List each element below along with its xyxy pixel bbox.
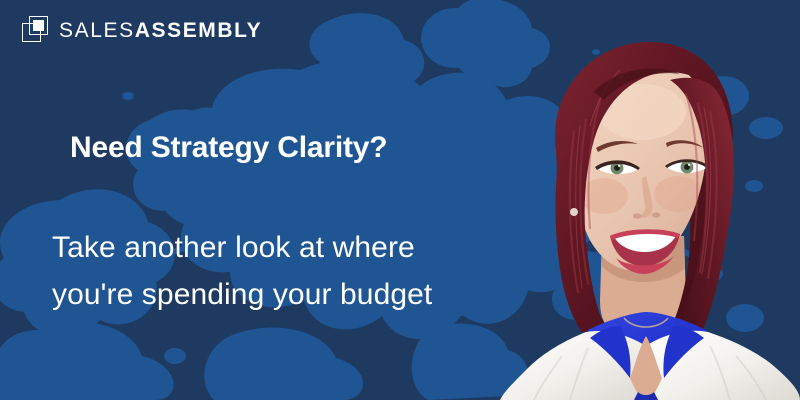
logo-word-assembly: ASSEMBLY xyxy=(135,19,263,42)
marketing-banner: SALESASSEMBLY Need Strategy Clarity? Tak… xyxy=(0,0,800,400)
sales-assembly-logo[interactable]: SALESASSEMBLY xyxy=(22,16,262,44)
logo-wordmark: SALESASSEMBLY xyxy=(59,20,262,41)
logo-square-fill xyxy=(33,20,44,31)
subheadline-line-1: Take another look at where xyxy=(52,225,432,272)
overlapping-squares-icon xyxy=(22,16,50,44)
ink-splatter-background xyxy=(0,0,800,400)
portrait-photo xyxy=(470,0,800,400)
logo-word-sales: SALES xyxy=(59,19,135,42)
subheadline: Take another look at where you're spendi… xyxy=(52,225,432,319)
headline: Need Strategy Clarity? xyxy=(70,131,387,164)
subheadline-line-2: you're spending your budget xyxy=(52,272,432,319)
